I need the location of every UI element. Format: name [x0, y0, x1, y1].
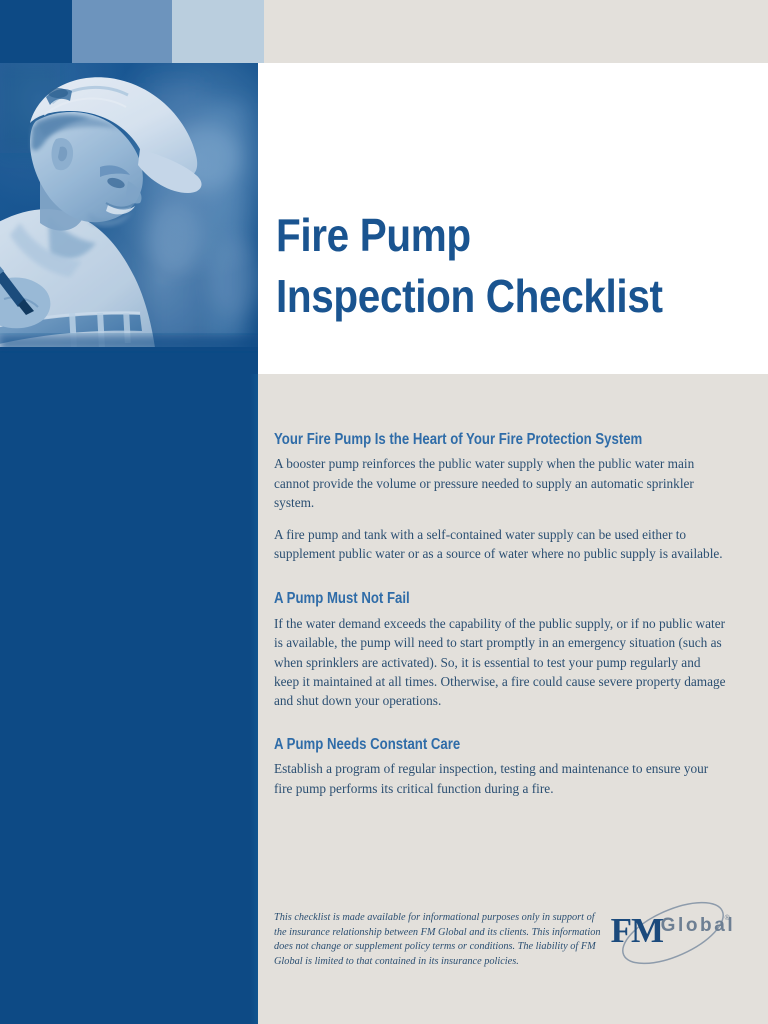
section-heading: Your Fire Pump Is the Heart of Your Fire…	[274, 430, 658, 449]
legal-disclaimer: This checklist is made available for inf…	[274, 911, 603, 969]
section-paragraph: Establish a program of regular inspectio…	[274, 759, 726, 798]
section-heading: A Pump Must Not Fail	[274, 589, 658, 608]
color-band-beige	[264, 0, 768, 63]
page-title-line-2: Inspection Checklist	[276, 266, 690, 327]
section-fire-pump-heart: Your Fire Pump Is the Heart of Your Fire…	[274, 430, 726, 563]
color-band-dark-blue	[0, 0, 72, 63]
section-pump-must-not-fail: A Pump Must Not Fail If the water demand…	[274, 589, 726, 710]
logo-fm-mark: FM	[611, 913, 663, 948]
section-paragraph: A booster pump reinforces the public wat…	[274, 454, 726, 512]
document-page: Fire Pump Inspection Checklist Your Fire…	[0, 0, 768, 1024]
body-content: Your Fire Pump Is the Heart of Your Fire…	[274, 430, 726, 798]
section-pump-constant-care: A Pump Needs Constant Care Establish a p…	[274, 735, 726, 798]
logo-registered-mark: ®	[725, 915, 730, 922]
section-paragraph: If the water demand exceeds the capabili…	[274, 614, 726, 711]
section-paragraph: A fire pump and tank with a self-contain…	[274, 525, 726, 564]
hero-photo-worker	[0, 63, 258, 374]
color-band-medium-blue	[72, 0, 172, 63]
color-band-light-blue	[172, 0, 264, 63]
header-color-bands	[0, 0, 768, 63]
page-footer: This checklist is made available for inf…	[274, 911, 744, 975]
section-heading: A Pump Needs Constant Care	[274, 735, 658, 754]
fm-global-logo: FM Global ®	[603, 895, 732, 975]
page-title: Fire Pump Inspection Checklist	[276, 205, 746, 327]
page-title-line-1: Fire Pump	[276, 205, 690, 266]
